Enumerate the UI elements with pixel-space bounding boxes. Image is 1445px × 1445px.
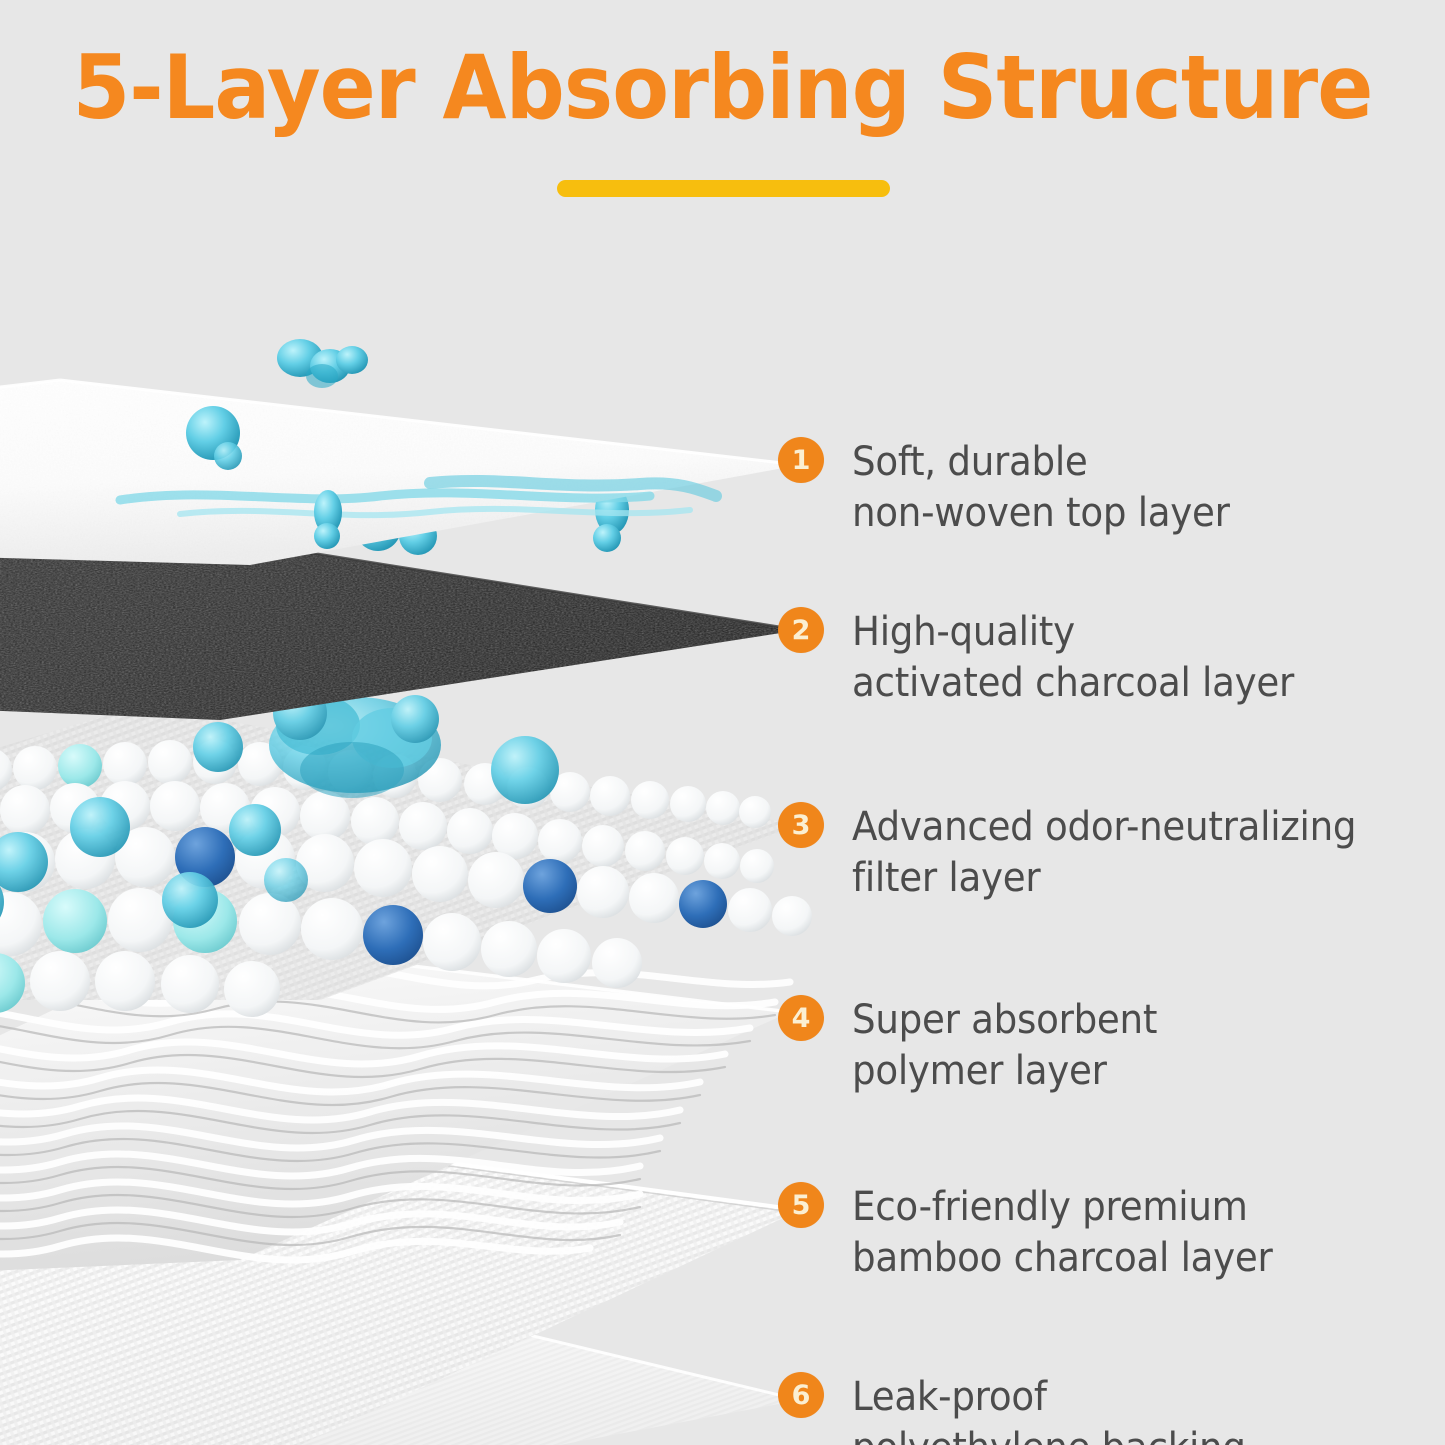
infographic-canvas: 5-Layer Absorbing Structure (0, 0, 1445, 1445)
number-badge-icon: 6 (778, 1372, 824, 1418)
layer-nonwoven-top (0, 380, 800, 565)
callout-label: Super absorbent polymer layer (852, 995, 1157, 1097)
number-badge-icon: 5 (778, 1182, 824, 1228)
callout-6[interactable]: 6 Leak-proof polyethylene backing (778, 1372, 1275, 1445)
layer-odor-filter-beads (0, 686, 812, 1017)
callout-2[interactable]: 2 High-quality activated charcoal layer (778, 607, 1327, 709)
callout-label: High-quality activated charcoal layer (852, 607, 1294, 709)
title-underline-rule (557, 180, 890, 197)
page-title: 5-Layer Absorbing Structure (43, 44, 1401, 132)
callout-3[interactable]: 3 Advanced odor-neutralizing filter laye… (778, 802, 1394, 904)
callout-label: Soft, durable non-woven top layer (852, 437, 1230, 539)
number-badge-icon: 3 (778, 802, 824, 848)
callout-label: Leak-proof polyethylene backing (852, 1372, 1246, 1445)
number-badge-icon: 2 (778, 607, 824, 653)
callout-1[interactable]: 1 Soft, durable non-woven top layer (778, 437, 1258, 539)
number-badge-icon: 1 (778, 437, 824, 483)
layer-stack-illustration (0, 300, 840, 1445)
callout-5[interactable]: 5 Eco-friendly premium bamboo charcoal l… (778, 1182, 1304, 1284)
number-badge-icon: 4 (778, 995, 824, 1041)
callout-label: Eco-friendly premium bamboo charcoal lay… (852, 1182, 1273, 1284)
callout-label: Advanced odor-neutralizing filter layer (852, 802, 1356, 904)
callout-4[interactable]: 4 Super absorbent polymer layer (778, 995, 1180, 1097)
